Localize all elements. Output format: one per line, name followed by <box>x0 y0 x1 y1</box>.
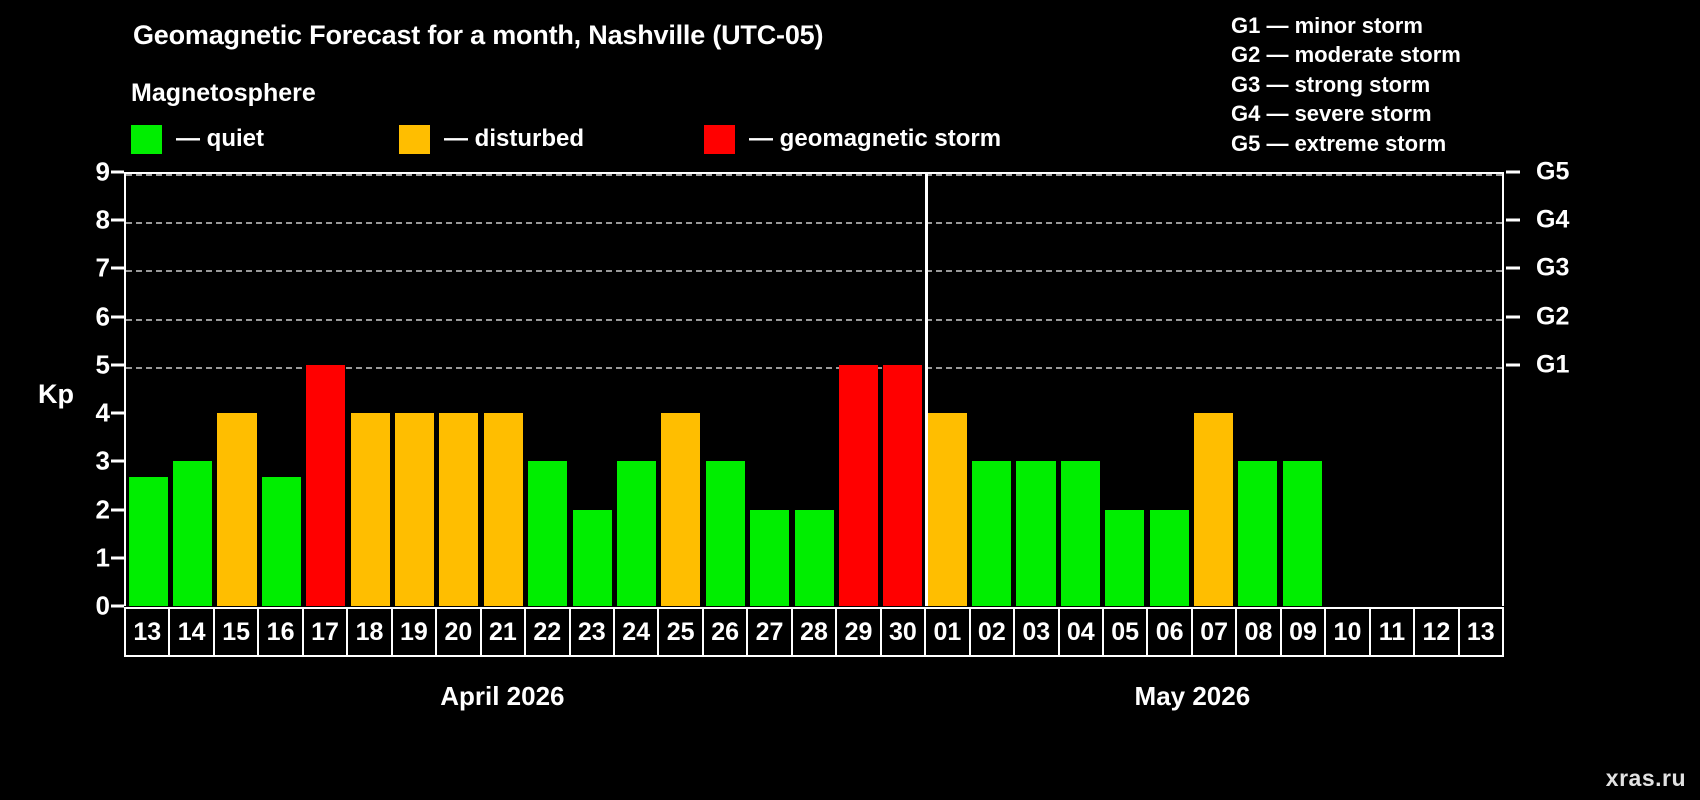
g-tick-label-G3: G3 <box>1536 254 1569 283</box>
bar-may-09[interactable] <box>1283 461 1322 606</box>
quiet-swatch-icon <box>131 125 162 154</box>
bar-slot[interactable] <box>348 174 392 606</box>
bar-april-18[interactable] <box>351 413 390 606</box>
bar-may-08[interactable] <box>1238 461 1277 606</box>
bar-series <box>126 174 1502 606</box>
bar-april-16[interactable] <box>262 477 301 606</box>
chart-subtitle: Magnetosphere <box>131 79 316 108</box>
bar-may-03[interactable] <box>1016 461 1055 606</box>
bar-april-20[interactable] <box>439 413 478 606</box>
day-label-april-26[interactable]: 26 <box>702 607 748 657</box>
bar-slot[interactable] <box>304 174 348 606</box>
g-tick-label-G4: G4 <box>1536 206 1569 235</box>
bar-slot[interactable] <box>1236 174 1280 606</box>
bar-slot[interactable] <box>126 174 170 606</box>
bar-slot[interactable] <box>170 174 214 606</box>
bar-may-01[interactable] <box>928 413 967 606</box>
y-tick-mark-6 <box>111 315 124 318</box>
bar-april-28[interactable] <box>795 510 834 606</box>
month-caption-may: May 2026 <box>1135 681 1251 712</box>
bar-april-30[interactable] <box>883 365 922 606</box>
bar-slot[interactable] <box>1369 174 1413 606</box>
right-axis-g-scale: G1G2G3G4G5 <box>1506 172 1700 606</box>
bar-slot[interactable] <box>703 174 747 606</box>
day-label-may-13[interactable]: 13 <box>1458 607 1504 657</box>
y-tick-mark-4 <box>111 412 124 415</box>
y-tick-label-6: 6 <box>96 301 110 332</box>
y-tick-mark-0 <box>111 605 124 608</box>
day-label-april-19[interactable]: 19 <box>391 607 437 657</box>
bar-april-13[interactable] <box>129 477 168 606</box>
day-label-april-14[interactable]: 14 <box>168 607 214 657</box>
legend-label-disturbed: — disturbed <box>444 125 584 153</box>
g-scale-legend: G1 — minor stormG2 — moderate stormG3 — … <box>1231 11 1461 158</box>
bar-may-06[interactable] <box>1150 510 1189 606</box>
day-label-may-03[interactable]: 03 <box>1013 607 1059 657</box>
bar-may-02[interactable] <box>972 461 1011 606</box>
g-legend-line-1: G1 — minor storm <box>1231 11 1461 40</box>
day-label-may-12[interactable]: 12 <box>1413 607 1459 657</box>
bar-slot[interactable] <box>925 174 969 606</box>
watermark: xras.ru <box>1606 765 1686 792</box>
legend-label-storm: — geomagnetic storm <box>749 125 1001 153</box>
bar-slot[interactable] <box>1058 174 1102 606</box>
bar-april-24[interactable] <box>617 461 656 606</box>
bar-slot[interactable] <box>481 174 525 606</box>
day-label-april-29[interactable]: 29 <box>835 607 881 657</box>
geomagnetic-forecast-chart: Geomagnetic Forecast for a month, Nashvi… <box>0 0 1700 800</box>
day-label-april-30[interactable]: 30 <box>880 607 926 657</box>
day-label-april-22[interactable]: 22 <box>524 607 570 657</box>
y-tick-mark-5 <box>111 363 124 366</box>
y-tick-label-9: 9 <box>96 157 110 188</box>
day-label-may-02[interactable]: 02 <box>969 607 1015 657</box>
page-title: Geomagnetic Forecast for a month, Nashvi… <box>133 20 823 51</box>
legend-item-storm: — geomagnetic storm <box>704 125 1001 154</box>
day-label-april-23[interactable]: 23 <box>569 607 615 657</box>
day-label-april-20[interactable]: 20 <box>435 607 481 657</box>
y-tick-label-1: 1 <box>96 542 110 573</box>
bar-may-07[interactable] <box>1194 413 1233 606</box>
bar-slot[interactable] <box>1014 174 1058 606</box>
bar-april-25[interactable] <box>661 413 700 606</box>
legend-item-quiet: — quiet <box>131 125 264 154</box>
g-tick-label-G1: G1 <box>1536 350 1569 379</box>
bar-may-04[interactable] <box>1061 461 1100 606</box>
day-label-april-16[interactable]: 16 <box>257 607 303 657</box>
day-label-may-10[interactable]: 10 <box>1324 607 1370 657</box>
day-label-may-01[interactable]: 01 <box>924 607 970 657</box>
y-tick-label-8: 8 <box>96 205 110 236</box>
day-label-may-06[interactable]: 06 <box>1146 607 1192 657</box>
day-label-april-27[interactable]: 27 <box>746 607 792 657</box>
g-tick-mark-G3 <box>1506 267 1520 270</box>
bar-april-14[interactable] <box>173 461 212 606</box>
bar-slot[interactable] <box>1147 174 1191 606</box>
bar-slot[interactable] <box>881 174 925 606</box>
bar-slot[interactable] <box>659 174 703 606</box>
bar-slot[interactable] <box>1280 174 1324 606</box>
g-legend-line-2: G2 — moderate storm <box>1231 40 1461 69</box>
g-tick-label-G5: G5 <box>1536 158 1569 187</box>
bar-may-05[interactable] <box>1105 510 1144 606</box>
bar-slot[interactable] <box>1325 174 1369 606</box>
bar-slot[interactable] <box>969 174 1013 606</box>
bar-slot[interactable] <box>392 174 436 606</box>
bar-april-23[interactable] <box>573 510 612 606</box>
y-tick-mark-1 <box>111 556 124 559</box>
bar-april-17[interactable] <box>306 365 345 606</box>
y-tick-mark-2 <box>111 508 124 511</box>
y-tick-mark-7 <box>111 267 124 270</box>
y-tick-mark-8 <box>111 219 124 222</box>
legend-label-quiet: — quiet <box>176 125 264 153</box>
bar-april-27[interactable] <box>750 510 789 606</box>
bar-slot[interactable] <box>792 174 836 606</box>
bar-slot[interactable] <box>570 174 614 606</box>
y-tick-label-4: 4 <box>96 398 110 429</box>
storm-swatch-icon <box>704 125 735 154</box>
bar-april-26[interactable] <box>706 461 745 606</box>
color-legend: — quiet— disturbed— geomagnetic storm <box>131 123 1001 155</box>
bar-slot[interactable] <box>836 174 880 606</box>
bar-slot[interactable] <box>1191 174 1235 606</box>
y-tick-label-3: 3 <box>96 446 110 477</box>
y-tick-mark-9 <box>111 171 124 174</box>
disturbed-swatch-icon <box>399 125 430 154</box>
y-tick-mark-3 <box>111 460 124 463</box>
day-label-may-05[interactable]: 05 <box>1102 607 1148 657</box>
day-label-april-17[interactable]: 17 <box>302 607 348 657</box>
day-label-april-18[interactable]: 18 <box>346 607 392 657</box>
g-legend-line-5: G5 — extreme storm <box>1231 129 1461 158</box>
bar-april-19[interactable] <box>395 413 434 606</box>
g-legend-line-4: G4 — severe storm <box>1231 99 1461 128</box>
day-label-may-07[interactable]: 07 <box>1191 607 1237 657</box>
bar-slot[interactable] <box>259 174 303 606</box>
day-label-april-24[interactable]: 24 <box>613 607 659 657</box>
plot-area <box>124 172 1504 606</box>
day-label-may-04[interactable]: 04 <box>1058 607 1104 657</box>
bar-slot[interactable] <box>1103 174 1147 606</box>
day-label-april-25[interactable]: 25 <box>657 607 703 657</box>
bar-slot[interactable] <box>1458 174 1502 606</box>
y-axis-title: Kp <box>38 379 74 410</box>
g-tick-mark-G1 <box>1506 363 1520 366</box>
bar-slot[interactable] <box>614 174 658 606</box>
y-tick-label-5: 5 <box>96 349 110 380</box>
bar-april-29[interactable] <box>839 365 878 606</box>
bar-april-15[interactable] <box>217 413 256 606</box>
bar-slot[interactable] <box>437 174 481 606</box>
y-tick-label-0: 0 <box>96 591 110 622</box>
bar-april-22[interactable] <box>528 461 567 606</box>
month-separator <box>925 174 928 606</box>
month-caption-april: April 2026 <box>440 681 564 712</box>
day-label-may-08[interactable]: 08 <box>1235 607 1281 657</box>
legend-item-disturbed: — disturbed <box>399 125 584 154</box>
g-tick-mark-G5 <box>1506 171 1520 174</box>
day-label-april-28[interactable]: 28 <box>791 607 837 657</box>
y-tick-label-7: 7 <box>96 253 110 284</box>
day-label-april-13[interactable]: 13 <box>124 607 170 657</box>
day-label-april-21[interactable]: 21 <box>480 607 526 657</box>
bar-slot[interactable] <box>1413 174 1457 606</box>
day-label-may-09[interactable]: 09 <box>1280 607 1326 657</box>
g-tick-label-G2: G2 <box>1536 302 1569 331</box>
g-tick-mark-G4 <box>1506 219 1520 222</box>
bar-april-21[interactable] <box>484 413 523 606</box>
x-axis-day-labels: 1314151617181920212223242526272829300102… <box>124 607 1504 657</box>
y-tick-label-2: 2 <box>96 494 110 525</box>
bar-slot[interactable] <box>215 174 259 606</box>
g-tick-mark-G2 <box>1506 315 1520 318</box>
bar-slot[interactable] <box>526 174 570 606</box>
day-label-april-15[interactable]: 15 <box>213 607 259 657</box>
bar-slot[interactable] <box>747 174 791 606</box>
day-label-may-11[interactable]: 11 <box>1369 607 1415 657</box>
g-legend-line-3: G3 — strong storm <box>1231 70 1461 99</box>
